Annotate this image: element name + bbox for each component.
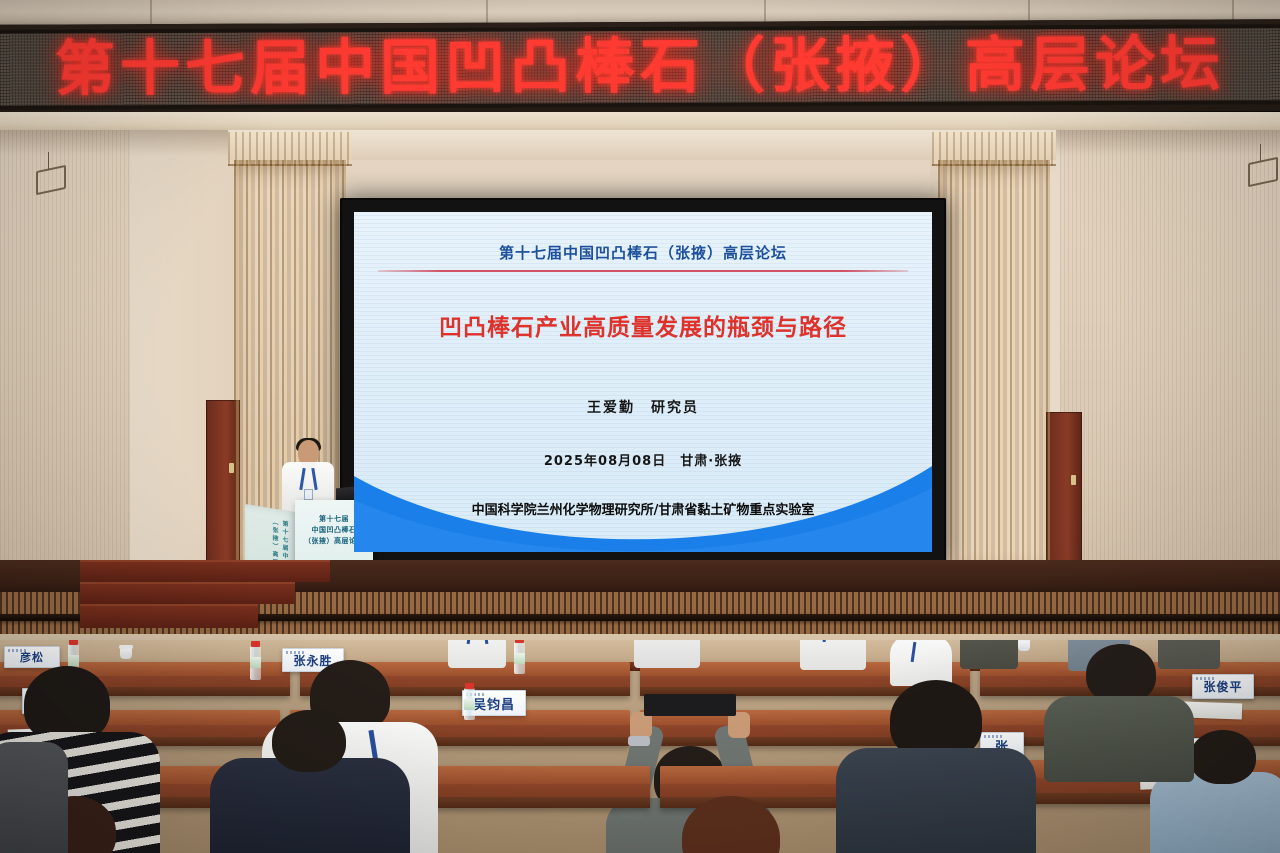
- projection-screen-frame: 第十七届中国凹凸棒石（张掖）高层论坛 凹凸棒石产业高质量发展的瓶颈与路径 王爱勤…: [340, 198, 946, 566]
- slide-header-text: 第十七届中国凹凸棒石（张掖）高层论坛: [354, 242, 932, 263]
- audience-person: [836, 680, 1036, 853]
- name-placard: 彦松: [4, 646, 60, 668]
- slide-wave-graphic: [354, 442, 932, 552]
- presentation-slide: 第十七届中国凹凸棒石（张掖）高层论坛 凹凸棒石产业高质量发展的瓶颈与路径 王爱勤…: [354, 212, 932, 552]
- audience-seating-area: 彦松 张永胜: [0, 640, 1280, 853]
- slide-affiliation-text: 中国科学院兰州化学物理研究所/甘肃省黏土矿物重点实验室: [354, 499, 932, 518]
- wall-stripe-right: [1060, 130, 1280, 600]
- slide-divider-rule: [378, 270, 908, 272]
- audience-person: [448, 640, 506, 666]
- stage-curtain-right: [938, 160, 1050, 560]
- audience-person: [634, 640, 700, 668]
- wall-stripe-left: [0, 130, 130, 600]
- audience-person: [210, 740, 410, 853]
- smartphone[interactable]: [644, 694, 736, 716]
- side-door-right[interactable]: [1046, 412, 1082, 562]
- wall-sconce-right: [1248, 160, 1274, 182]
- audience-person: [800, 640, 866, 670]
- projection-screen: 第十七届中国凹凸棒石（张掖）高层论坛 凹凸棒石产业高质量发展的瓶颈与路径 王爱勤…: [354, 212, 932, 552]
- water-bottle[interactable]: [514, 642, 525, 674]
- water-bottle[interactable]: [464, 688, 475, 720]
- led-banner-text: 第十七届中国凹凸棒石（张掖）高层论坛: [55, 34, 1225, 99]
- audience-person: [960, 640, 1018, 668]
- water-bottle[interactable]: [250, 646, 261, 680]
- wristwatch: [628, 736, 650, 746]
- slide-title-text: 凹凸棒石产业高质量发展的瓶颈与路径: [354, 308, 932, 342]
- led-banner: 第十七届中国凹凸棒石（张掖）高层论坛: [0, 19, 1280, 117]
- audience-person: [656, 796, 806, 853]
- slide-author-text: 王爱勤 研究员: [354, 397, 932, 417]
- audience-person: [0, 742, 68, 853]
- tea-cup[interactable]: [1018, 640, 1030, 651]
- speaker-badge: [304, 489, 313, 500]
- audience-person: [890, 640, 952, 682]
- audience-person: [1044, 644, 1194, 774]
- conference-hall-photo: 第十七届中国凹凸棒石（张掖）高层论坛 第十七届中国凹凸棒石（张掖）高层论坛 凹凸…: [0, 0, 1280, 853]
- tea-cup[interactable]: [120, 648, 132, 659]
- led-banner-face: 第十七届中国凹凸棒石（张掖）高层论坛: [0, 28, 1280, 106]
- name-placard: 张俊平: [1192, 674, 1254, 699]
- wall-sconce-left: [36, 168, 62, 190]
